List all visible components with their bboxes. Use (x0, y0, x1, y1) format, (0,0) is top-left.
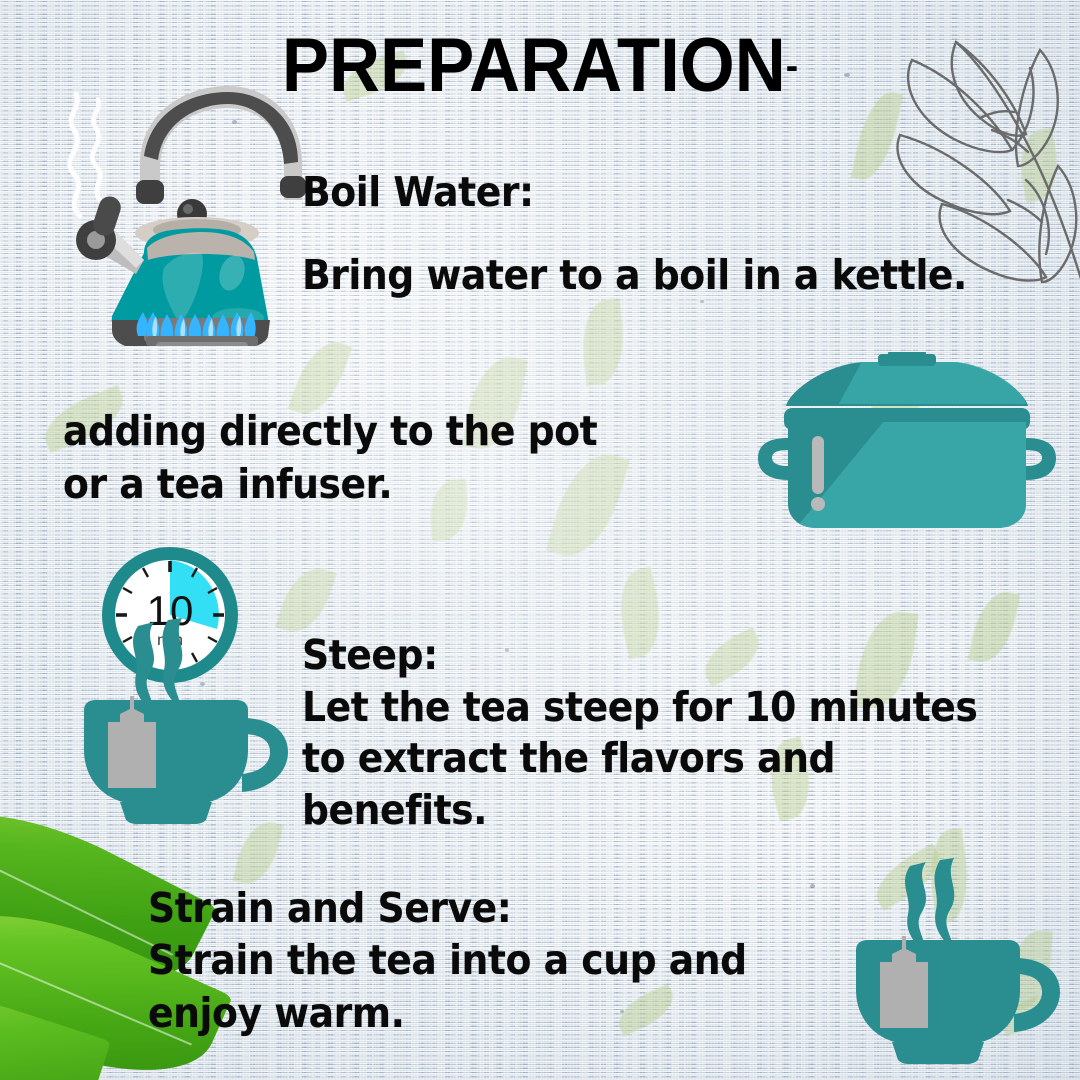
step-strain-heading: Strain and Serve: (148, 882, 829, 934)
page-title-text: PREPARATION (282, 23, 786, 108)
step-boil-heading: Boil Water: (302, 172, 967, 213)
step-infuser: adding directly to the pot or a tea infu… (63, 405, 652, 512)
teacup-with-teabag-icon (842, 858, 1072, 1064)
step-infuser-body: adding directly to the pot or a tea infu… (63, 405, 652, 512)
step-boil-water: Boil Water: Bring water to a boil in a k… (302, 172, 967, 296)
step-steep-body: Let the tea steep for 10 minutes to extr… (302, 682, 1001, 837)
step-strain-body: Strain the tea into a cup and enjoy warm… (148, 934, 829, 1039)
page-title: PREPARATION- (38, 22, 1042, 109)
poster-canvas: 10 min (0, 0, 1080, 1080)
title-dash: - (786, 44, 798, 88)
step-steep-heading: Steep: (302, 630, 1001, 682)
kettle-on-flame-icon (52, 68, 306, 346)
step-steep: Steep: Let the tea steep for 10 minutes … (302, 630, 1001, 837)
teacup-with-teabag-icon (70, 618, 300, 824)
cooking-pot-icon (758, 352, 1056, 544)
step-strain-serve: Strain and Serve: Strain the tea into a … (148, 882, 829, 1039)
step-boil-body: Bring water to a boil in a kettle. (302, 255, 967, 296)
